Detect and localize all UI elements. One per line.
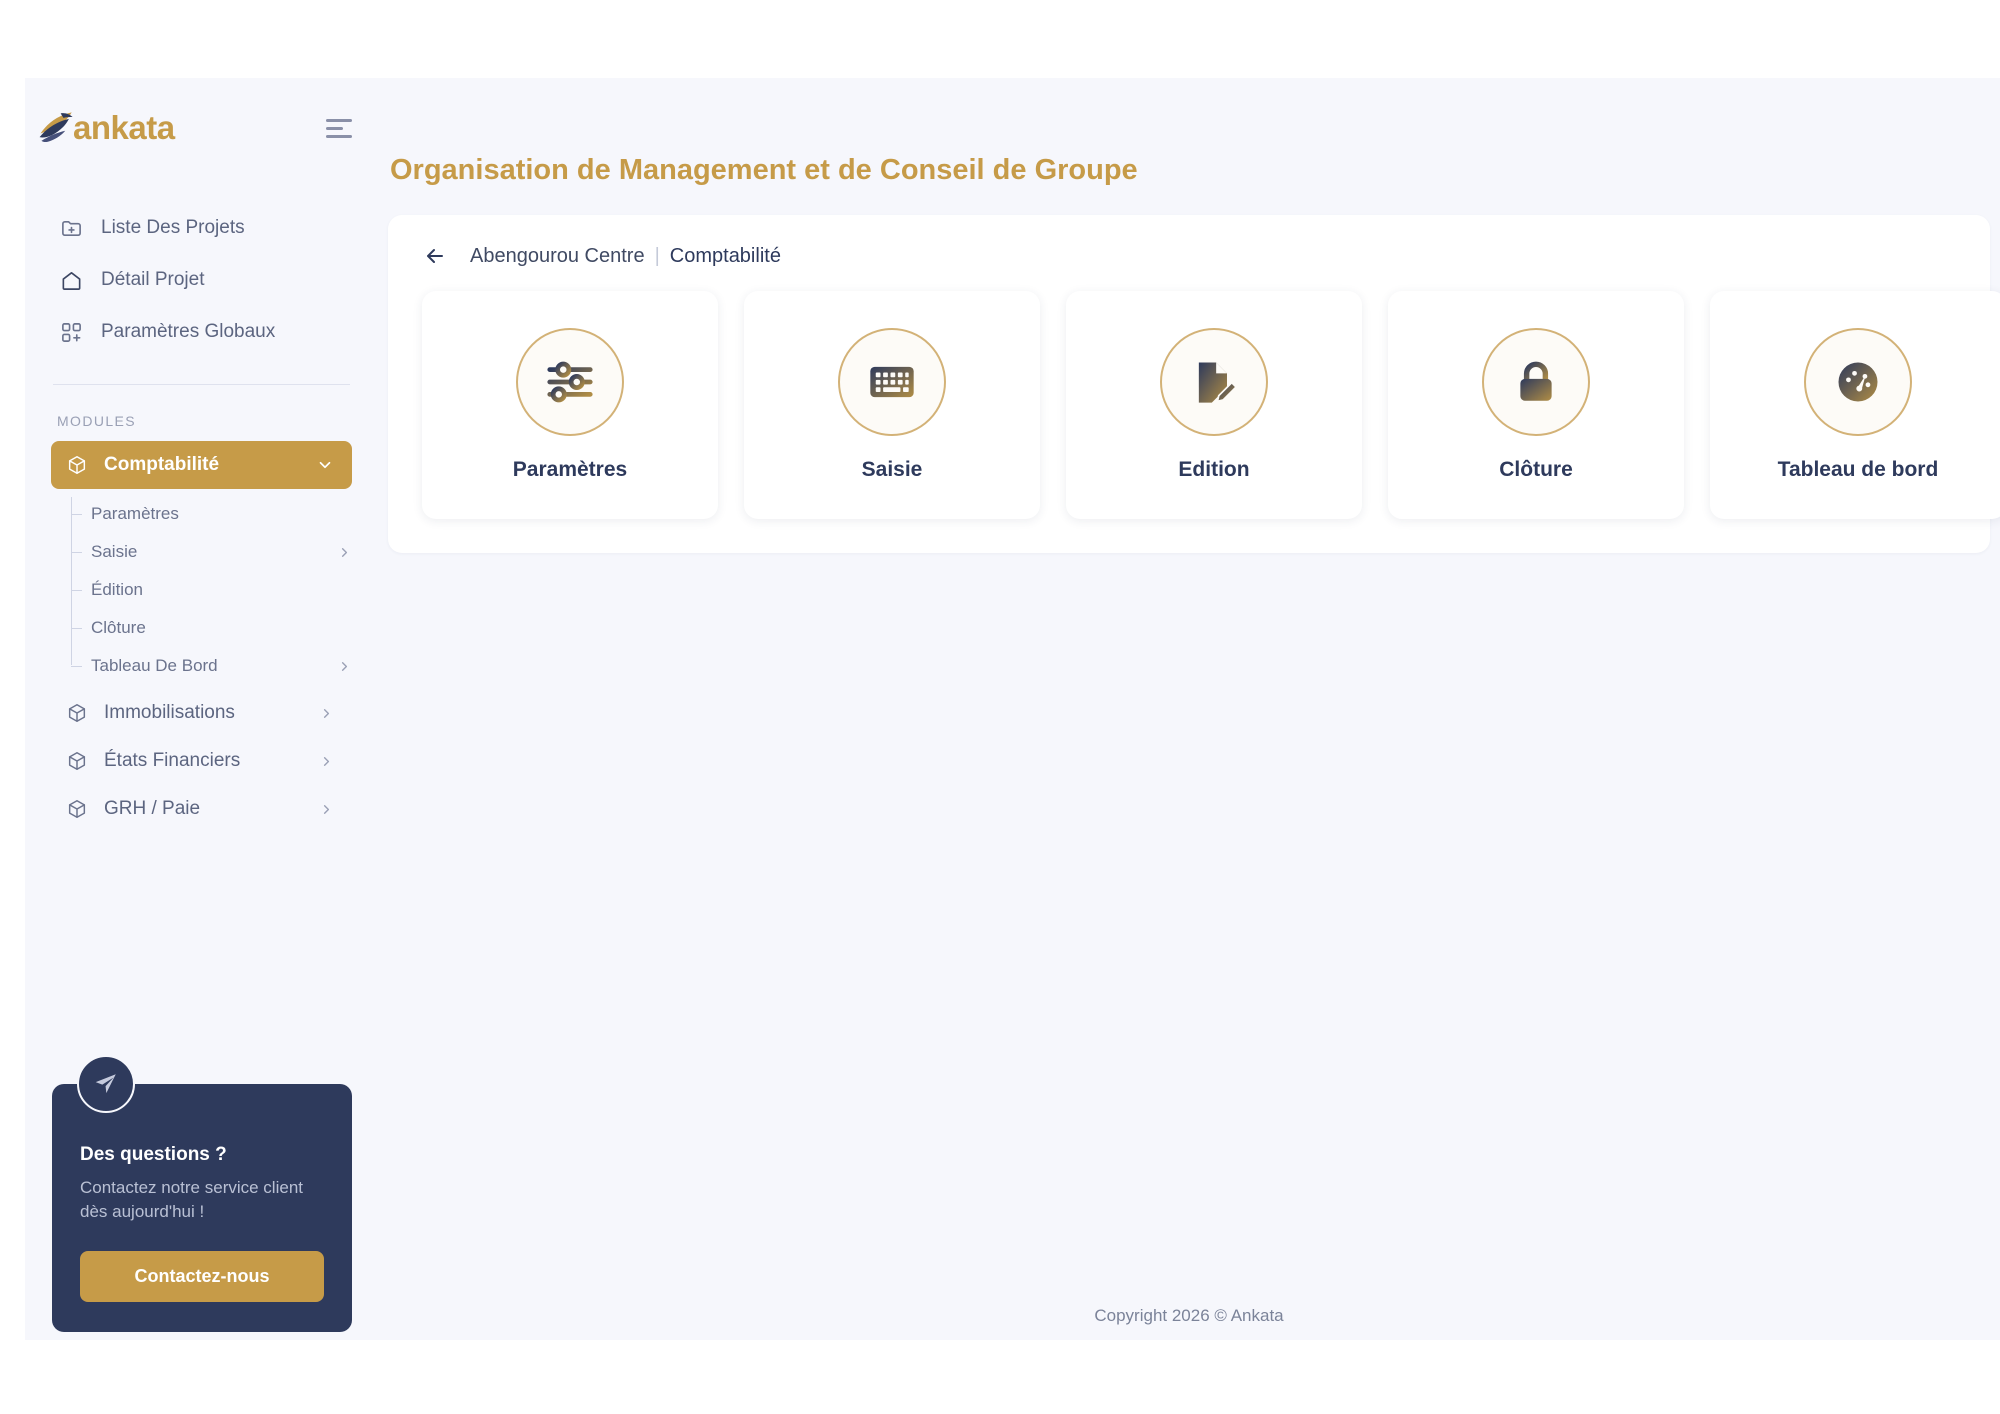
brand-row: ankata	[25, 78, 378, 178]
cube-icon	[65, 453, 89, 477]
sidebar-module-grh-paie[interactable]: GRH / Paie	[51, 785, 352, 833]
sidebar-item-parametres-globaux[interactable]: Paramètres Globaux	[25, 306, 378, 358]
arrow-left-icon[interactable]	[422, 243, 448, 269]
paper-plane-icon	[77, 1055, 135, 1113]
sidebar-module-etats-financiers[interactable]: États Financiers	[51, 737, 352, 785]
sidebar: ankata Liste Des Projets	[25, 78, 378, 1340]
sliders-icon	[516, 328, 624, 436]
top-bar	[378, 78, 2000, 156]
chevron-right-icon	[337, 659, 352, 674]
module-card-grid: Paramètres	[388, 291, 1990, 519]
sidebar-submenu-comptabilite: Paramètres Saisie Édition Clôture Tablea…	[25, 495, 378, 685]
breadcrumb-separator: |	[655, 245, 660, 268]
chevron-right-icon	[319, 802, 334, 817]
sidebar-item-detail-projet[interactable]: Détail Projet	[25, 254, 378, 306]
module-card-label: Edition	[1178, 458, 1249, 482]
chevron-right-icon	[319, 754, 334, 769]
sidebar-module-label: États Financiers	[104, 750, 240, 772]
sidebar-subitem-parametres[interactable]: Paramètres	[71, 495, 378, 533]
cube-icon	[65, 749, 89, 773]
cube-icon	[65, 701, 89, 725]
support-title: Des questions ?	[80, 1144, 324, 1166]
module-card-saisie[interactable]: Saisie	[744, 291, 1040, 519]
sidebar-item-label: Liste Des Projets	[101, 217, 245, 239]
sidebar-item-liste-des-projets[interactable]: Liste Des Projets	[25, 202, 378, 254]
module-card-edition[interactable]: Edition	[1066, 291, 1362, 519]
contact-us-button[interactable]: Contactez-nous	[80, 1251, 324, 1302]
cube-icon	[65, 797, 89, 821]
page-title: Organisation de Management et de Conseil…	[378, 156, 2000, 185]
keyboard-icon	[838, 328, 946, 436]
sidebar-item-label: Détail Projet	[101, 269, 205, 291]
support-text: Contactez notre service client dès aujou…	[80, 1176, 324, 1225]
primary-nav: Liste Des Projets Détail Projet	[25, 178, 378, 358]
sidebar-subitem-label: Clôture	[91, 618, 146, 638]
main-content: Organisation de Management et de Conseil…	[378, 78, 2000, 1340]
chevron-down-icon	[316, 456, 334, 474]
sidebar-module-comptabilite[interactable]: Comptabilité	[51, 441, 352, 489]
sidebar-item-label: Paramètres Globaux	[101, 321, 275, 343]
module-card-label: Saisie	[862, 458, 923, 482]
app-viewport: ankata Liste Des Projets	[25, 78, 2000, 1340]
chevron-right-icon	[337, 545, 352, 560]
document-edit-icon	[1160, 328, 1268, 436]
module-card-parametres[interactable]: Paramètres	[422, 291, 718, 519]
sidebar-subitem-label: Tableau De Bord	[91, 656, 218, 676]
home-icon	[59, 268, 83, 292]
breadcrumb: Abengourou Centre | Comptabilité	[388, 243, 1990, 269]
sidebar-subitem-saisie[interactable]: Saisie	[71, 533, 378, 571]
module-card-tableau-de-bord[interactable]: Tableau de bord	[1710, 291, 2000, 519]
module-card-label: Paramètres	[513, 458, 627, 482]
support-card: Des questions ? Contactez notre service …	[52, 1084, 352, 1332]
sidebar-module-label: GRH / Paie	[104, 798, 200, 820]
footer-copyright: Copyright 2026 © Ankata	[378, 1306, 2000, 1340]
gauge-icon	[1804, 328, 1912, 436]
module-panel: Abengourou Centre | Comptabilité	[388, 215, 1990, 553]
breadcrumb-current: Comptabilité	[670, 245, 781, 268]
folder-plus-icon	[59, 216, 83, 240]
sidebar-module-label: Comptabilité	[104, 454, 219, 476]
sidebar-section-label: MODULES	[25, 385, 378, 441]
sidebar-subitem-edition[interactable]: Édition	[71, 571, 378, 609]
brand-logo[interactable]: ankata	[35, 106, 175, 150]
lock-icon	[1482, 328, 1590, 436]
support-widget: Des questions ? Contactez notre service …	[52, 1056, 352, 1332]
breadcrumb-parent[interactable]: Abengourou Centre	[470, 245, 645, 268]
chevron-right-icon	[319, 706, 334, 721]
sidebar-subitem-tableau-de-bord[interactable]: Tableau De Bord	[71, 647, 378, 685]
sidebar-module-label: Immobilisations	[104, 702, 235, 724]
hamburger-menu-icon[interactable]	[326, 114, 354, 142]
module-card-cloture[interactable]: Clôture	[1388, 291, 1684, 519]
module-card-label: Tableau de bord	[1778, 458, 1939, 482]
sidebar-subitem-label: Édition	[91, 580, 143, 600]
sidebar-subitem-label: Paramètres	[91, 504, 179, 524]
sidebar-module-immobilisations[interactable]: Immobilisations	[51, 689, 352, 737]
brand-name: ankata	[73, 109, 175, 147]
sidebar-subitem-label: Saisie	[91, 542, 137, 562]
module-card-label: Clôture	[1499, 458, 1573, 482]
grid-plus-icon	[59, 320, 83, 344]
sidebar-subitem-cloture[interactable]: Clôture	[71, 609, 378, 647]
breadcrumb-text: Abengourou Centre | Comptabilité	[470, 245, 781, 268]
